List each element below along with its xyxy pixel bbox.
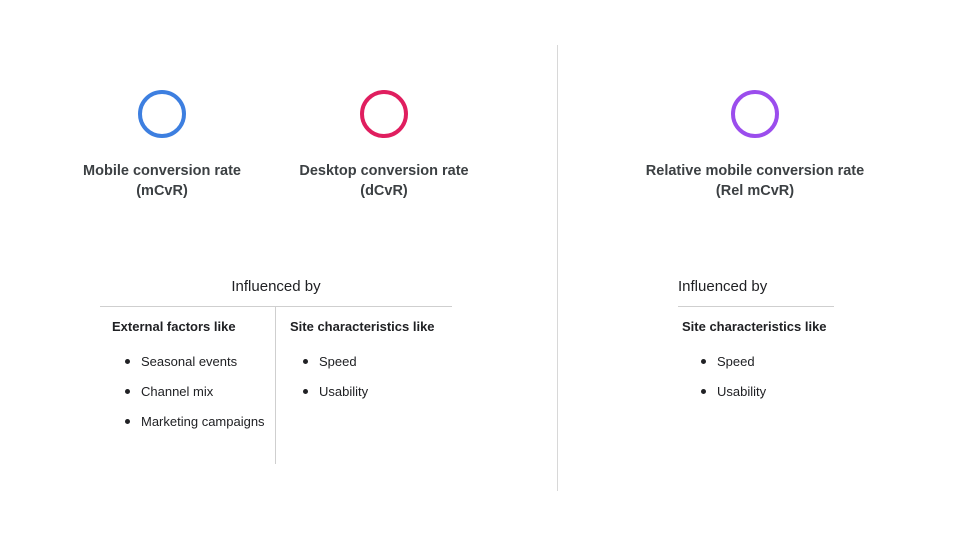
influenced-by-right: Influenced by Site characteristics like …: [678, 277, 834, 413]
bullet-list: Seasonal events Channel mix Marketing ca…: [112, 353, 265, 430]
influenced-by-left: Influenced by External factors like Seas…: [100, 277, 452, 464]
column-heading: External factors like: [112, 318, 265, 336]
metric-caption: Desktop conversion rate (dCvR): [284, 161, 484, 201]
list-item: Usability: [682, 383, 834, 400]
influence-column-site-characteristics: Site characteristics like Speed Usabilit…: [678, 307, 834, 413]
influence-column-site-characteristics: Site characteristics like Speed Usabilit…: [275, 307, 452, 464]
list-item: Speed: [682, 353, 834, 370]
list-item: Usability: [290, 383, 442, 400]
influence-column-external-factors: External factors like Seasonal events Ch…: [100, 307, 275, 464]
influenced-by-title: Influenced by: [678, 277, 834, 306]
diagram-canvas: Mobile conversion rate (mCvR) Desktop co…: [0, 0, 960, 540]
list-item: Channel mix: [112, 383, 265, 400]
column-heading: Site characteristics like: [682, 318, 834, 336]
metric-relative-mobile-conversion-rate: Relative mobile conversion rate (Rel mCv…: [630, 90, 880, 201]
metric-caption: Relative mobile conversion rate (Rel mCv…: [630, 161, 880, 201]
list-item: Seasonal events: [112, 353, 265, 370]
list-item: Marketing campaigns: [112, 413, 265, 430]
metric-caption: Mobile conversion rate (mCvR): [62, 161, 262, 201]
influenced-by-title: Influenced by: [100, 277, 452, 306]
circle-outline-icon: [731, 90, 779, 138]
metric-desktop-conversion-rate: Desktop conversion rate (dCvR): [284, 90, 484, 201]
circle-outline-icon: [138, 90, 186, 138]
bullet-list: Speed Usability: [682, 353, 834, 400]
panel-divider: [557, 45, 558, 491]
metric-mobile-conversion-rate: Mobile conversion rate (mCvR): [62, 90, 262, 201]
list-item: Speed: [290, 353, 442, 370]
circle-outline-icon: [360, 90, 408, 138]
bullet-list: Speed Usability: [290, 353, 442, 400]
column-heading: Site characteristics like: [290, 318, 442, 336]
